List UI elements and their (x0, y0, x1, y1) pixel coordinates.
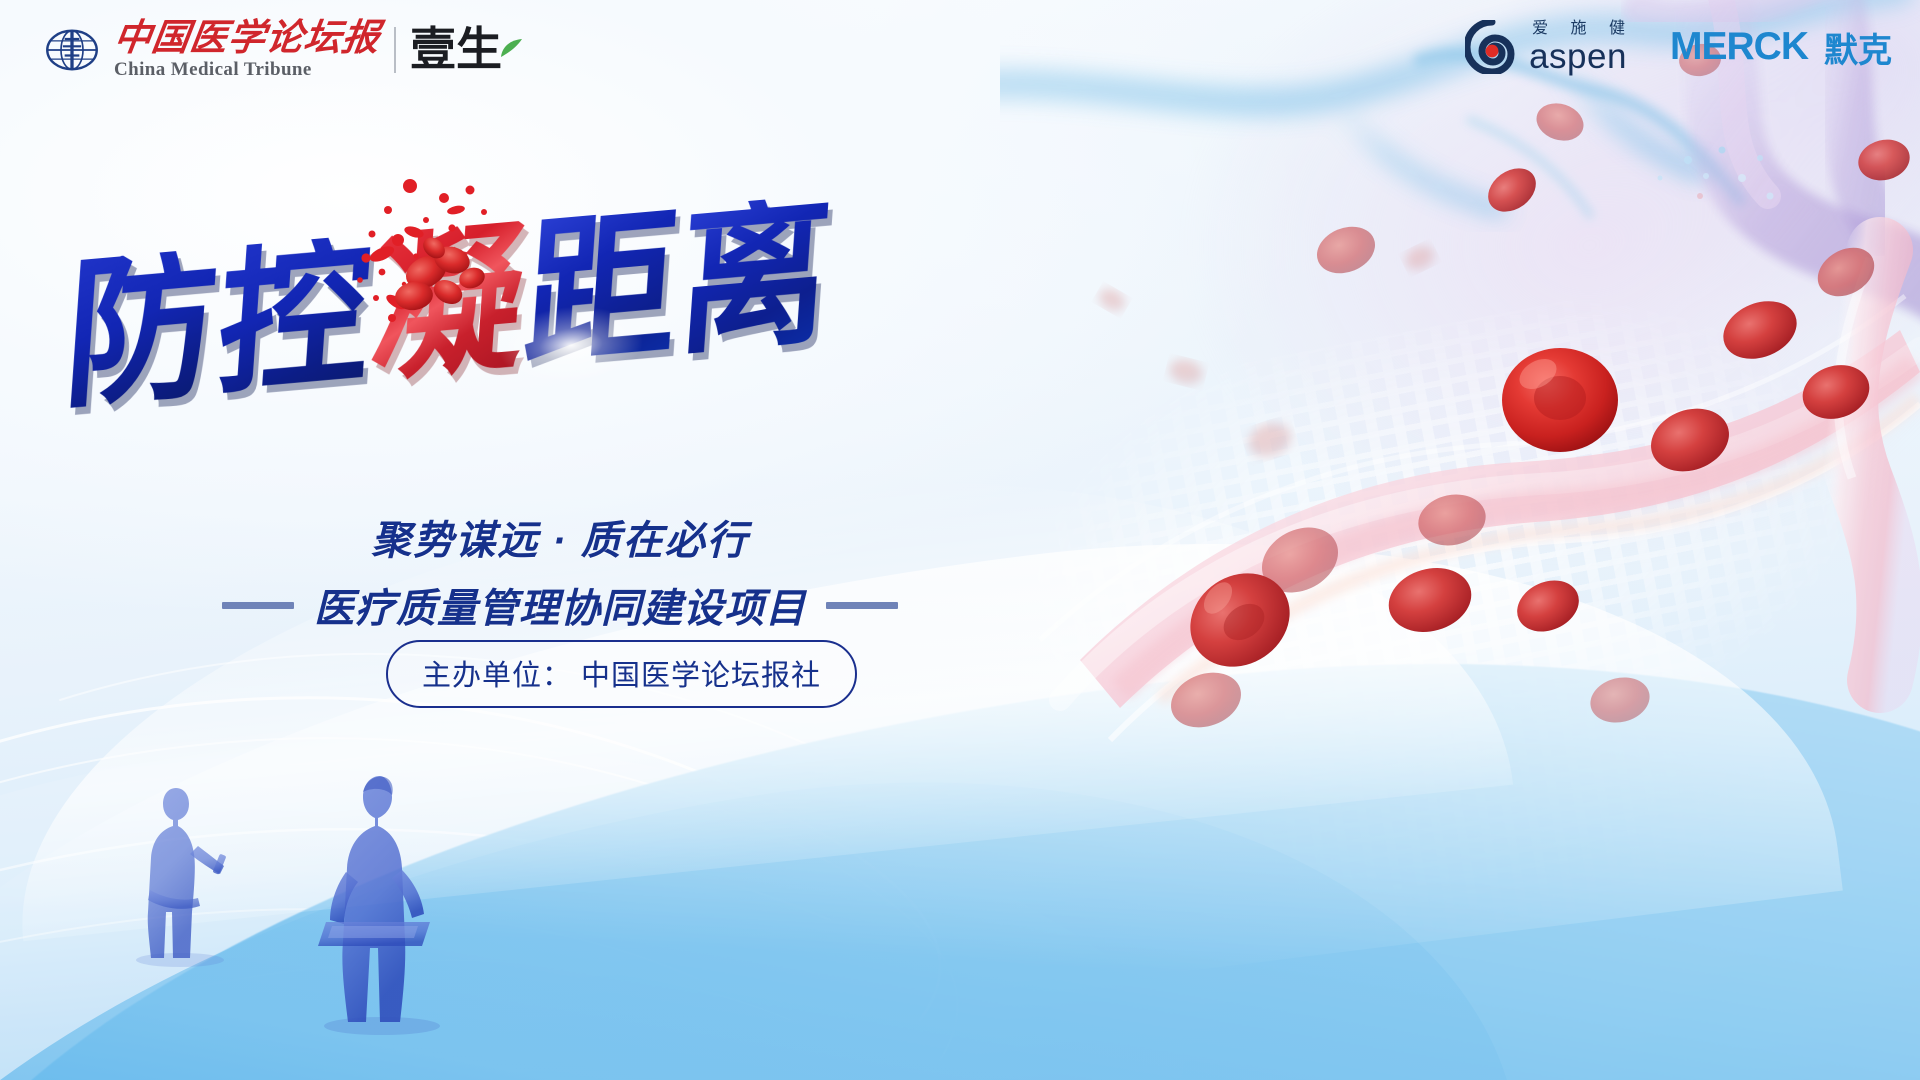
publisher-name-en: China Medical Tribune (114, 60, 380, 79)
doctor-silhouette-right (318, 776, 440, 1035)
brand-logo-yisheng[interactable]: 壹生 (410, 27, 524, 73)
aspen-swirl-icon (1465, 20, 1519, 74)
subtitle-secondary-row: 医疗质量管理协同建设项目 (240, 576, 880, 634)
dash-rule-left (222, 602, 294, 609)
title-char-1: 防 (58, 247, 222, 415)
doctor-silhouette-group (120, 762, 540, 1042)
aspen-wordmark: 爱 施 健 aspen (1529, 21, 1634, 74)
title-char-4: 距 (518, 207, 682, 375)
globe-caduceus-icon (44, 28, 100, 72)
publisher-name-cn: 中国医学论坛报 (111, 20, 382, 57)
hero-subtitles: 聚势谋远 · 质在必行 医疗质量管理协同建设项目 (240, 508, 880, 634)
aspen-name-en: aspen (1529, 39, 1634, 74)
organizer-badge: 主办单位： 中国医学论坛报社 (386, 640, 857, 708)
title-char-5: 离 (672, 193, 836, 361)
brand-name-cn: 壹生 (410, 27, 502, 73)
merck-name-cn: 默克 (1824, 23, 1892, 72)
blood-splatter-icon (352, 168, 532, 348)
sponsor-logo-merck[interactable]: MERCK 默克 (1670, 23, 1892, 72)
publisher-wordmark: 中国医学论坛报 China Medical Tribune (114, 20, 380, 79)
sponsor-logo-aspen[interactable]: 爱 施 健 aspen (1465, 20, 1634, 74)
subtitle-secondary: 医疗质量管理协同建设项目 (314, 576, 806, 634)
doctor-silhouette-left (136, 788, 226, 967)
aspen-name-cn: 爱 施 健 (1529, 21, 1634, 37)
leaf-icon (498, 37, 524, 63)
sponsor-logos: 爱 施 健 aspen MERCK 默克 (1465, 20, 1892, 74)
banner-root: 中国医学论坛报 China Medical Tribune 壹生 爱 施 健 a… (0, 0, 1920, 1080)
subtitle-primary: 聚势谋远 · 质在必行 (240, 508, 880, 566)
merck-name-en: MERCK (1670, 25, 1808, 69)
dash-rule-right (826, 602, 898, 609)
logo-divider (394, 27, 396, 73)
publisher-logo[interactable]: 中国医学论坛报 China Medical Tribune 壹生 (44, 20, 524, 79)
